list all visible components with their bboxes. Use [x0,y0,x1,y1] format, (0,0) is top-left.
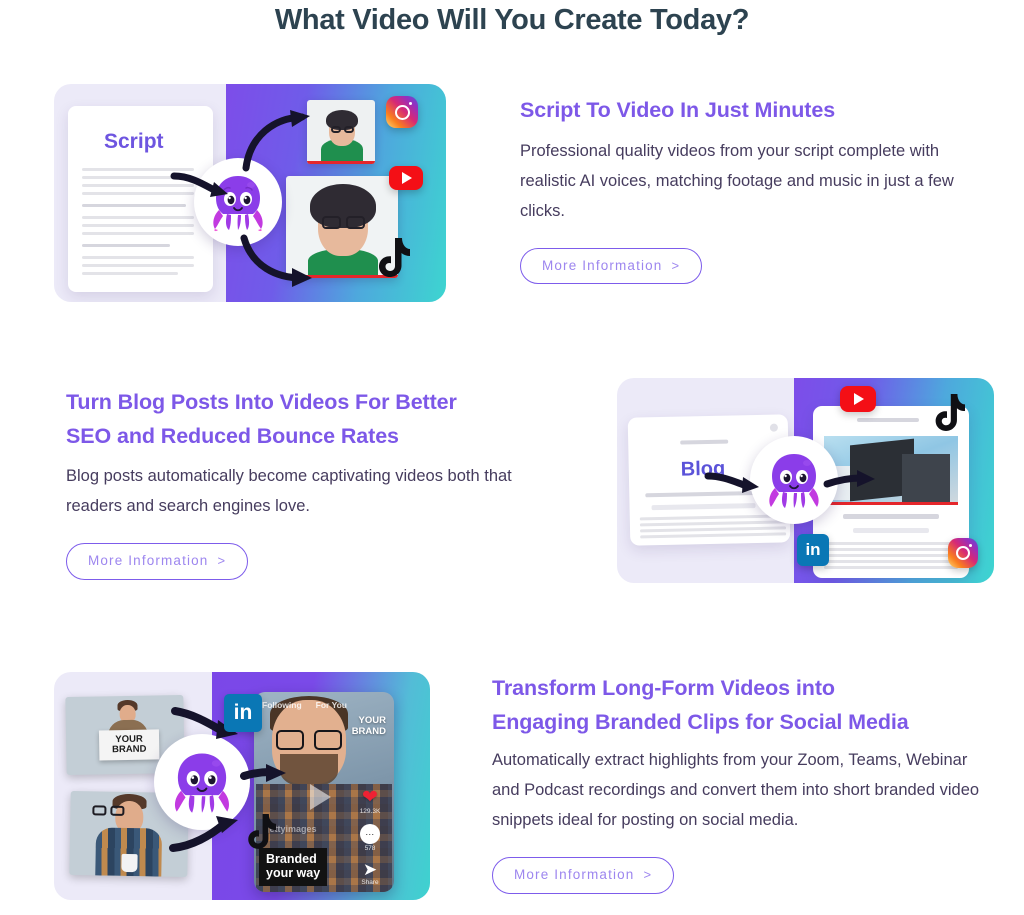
video-progress-bar [824,502,958,505]
text-column: Script To Video In Just Minutes Professi… [446,84,994,284]
media-column: Blog [617,378,994,583]
linkedin-icon: in [797,534,829,566]
feature-row-branded-clips: YOUR BRAND [54,672,994,900]
share-label: Share [353,879,387,886]
feature-title-line-2: Engaging Branded Clips for Social Media [492,710,909,734]
share-icon: ➤ [353,861,387,878]
chevron-right-icon: > [671,259,680,272]
brand-watermark: YOUR BRAND [352,716,386,737]
blog-to-video-illustration: Blog [617,378,994,583]
feature-section-page: What Video Will You Create Today? Script [0,0,1024,915]
feature-title-line-2: SEO and Reduced Bounce Rates [66,424,399,448]
feature-body: Professional quality videos from your sc… [520,136,990,226]
comment-icon: ⋯ [360,824,380,844]
caption-line-2: your way [266,866,320,881]
tab-for-you[interactable]: For You [316,700,347,710]
like-action[interactable]: ❤ 129.3K [353,788,387,815]
feature-title-line-1: Turn Blog Posts Into Videos For Better [66,390,457,414]
arrow-icon [825,470,877,494]
script-to-video-illustration: Script [54,84,446,302]
media-column: YOUR BRAND [54,672,430,900]
arrow-icon [705,470,761,494]
text-column: Turn Blog Posts Into Videos For Better S… [66,378,617,580]
arrow-icon [240,110,320,172]
share-action[interactable]: ➤ Share [353,861,387,886]
chevron-right-icon: > [217,554,226,567]
tiktok-icon [372,236,410,283]
feature-title: Transform Long-Form Videos into Engaging… [492,672,994,739]
tab-following[interactable]: Following [262,700,302,710]
tiktok-icon [242,812,276,855]
media-column: Script [54,84,446,302]
feature-title-line-1: Transform Long-Form Videos into [492,676,835,700]
arrow-icon [240,234,322,284]
play-icon[interactable] [310,784,331,810]
feature-row-script-to-video: Script [54,84,994,302]
youtube-icon [840,386,876,412]
youtube-icon [389,166,423,190]
more-information-label: More Information [542,259,662,273]
branded-clip-preview: Following For You YOUR BRAND ❤ 129.3K [254,692,394,892]
like-count: 129.3K [353,808,387,815]
linkedin-icon: in [224,694,262,732]
instagram-icon [948,538,978,568]
heart-icon: ❤ [353,788,387,807]
watermark-line-2: BRAND [352,727,386,738]
instagram-icon [386,96,418,128]
more-information-button[interactable]: More Information > [492,857,674,894]
more-information-label: More Information [514,868,634,882]
page-title: What Video Will You Create Today? [0,4,1024,37]
engagement-rail: ❤ 129.3K ⋯ 578 ➤ Share [353,788,387,892]
text-column: Transform Long-Form Videos into Engaging… [430,672,994,894]
comment-count: 578 [353,845,387,852]
feature-row-blog-to-video: Turn Blog Posts Into Videos For Better S… [66,378,994,583]
sign-line-2: BRAND [99,744,159,755]
card-dot-icon [770,424,778,432]
feature-body: Blog posts automatically become captivat… [66,461,536,521]
comment-action[interactable]: ⋯ 578 [353,824,387,852]
arrow-icon [242,764,288,788]
your-brand-sign: YOUR BRAND [99,729,160,760]
arrow-icon [170,812,244,854]
feature-title: Turn Blog Posts Into Videos For Better S… [66,386,557,453]
tiktok-icon [929,392,965,437]
arrow-icon [172,172,232,202]
feature-body: Automatically extract highlights from yo… [492,745,982,835]
feature-title: Script To Video In Just Minutes [520,94,994,128]
branded-clips-illustration: YOUR BRAND [54,672,430,900]
more-information-button[interactable]: More Information > [66,543,248,580]
more-information-label: More Information [88,554,208,568]
clip-tabs: Following For You [262,700,386,710]
more-information-button[interactable]: More Information > [520,248,702,285]
chevron-right-icon: > [643,868,652,881]
script-document-label: Script [104,130,164,154]
